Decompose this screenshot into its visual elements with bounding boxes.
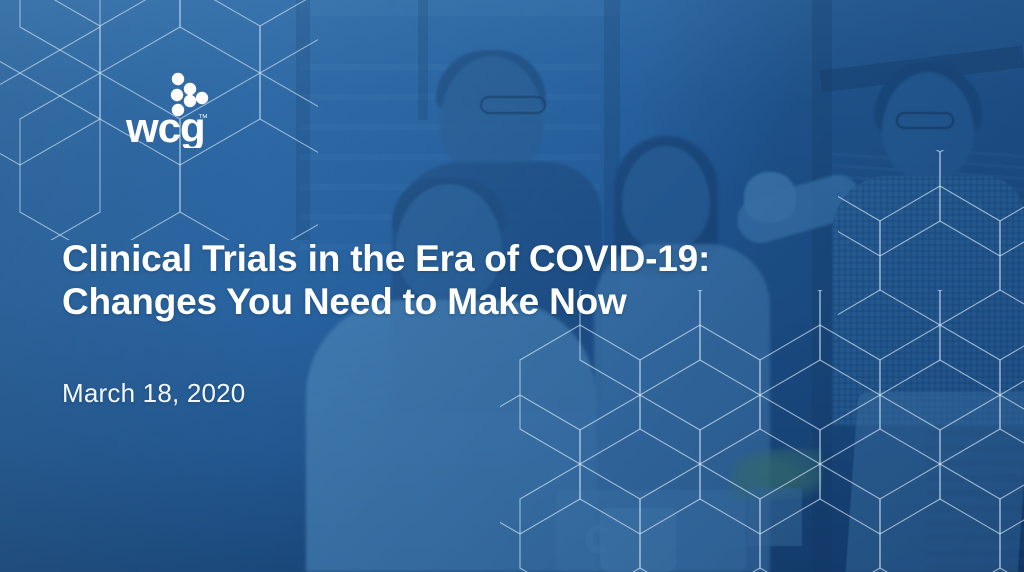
title-slide: wcg ™ Clinical Trials in the Era of COVI…	[0, 0, 1024, 572]
svg-text:wcg: wcg	[126, 104, 205, 148]
title-line-2: Changes You Need to Make Now	[62, 281, 902, 324]
wcg-logo[interactable]: wcg ™	[126, 72, 246, 148]
svg-text:™: ™	[198, 113, 208, 124]
title-line-1: Clinical Trials in the Era of COVID-19:	[62, 238, 902, 281]
presentation-date: March 18, 2020	[62, 378, 245, 409]
page-title: Clinical Trials in the Era of COVID-19: …	[62, 238, 902, 324]
